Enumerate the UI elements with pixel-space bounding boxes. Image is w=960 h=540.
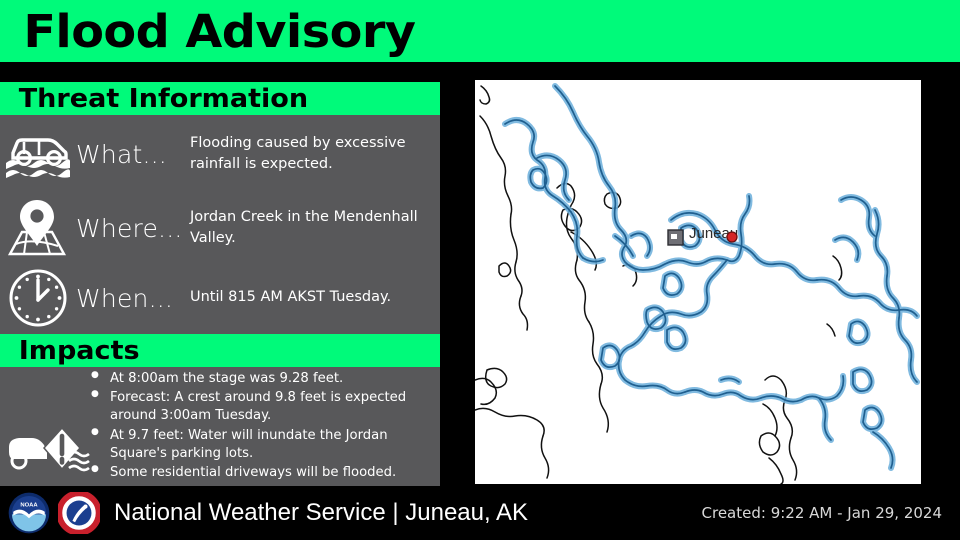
list-item: At 9.7 feet: Water will inundate the Jor… (88, 427, 440, 463)
footer: NOAA National Weather Service | Juneau, … (0, 486, 960, 540)
threat-row-when: When... Until 815 AM AKST Tuesday. (0, 264, 440, 332)
city-marker-icon (668, 230, 683, 245)
threat-information-header: Threat Information (0, 82, 440, 115)
nws-logo (58, 492, 100, 534)
threat-label-what: What... (76, 142, 188, 167)
top-banner: Flood Advisory (0, 0, 960, 62)
page-title: Flood Advisory (0, 9, 415, 54)
advisory-map[interactable]: Juneau (475, 80, 921, 484)
threat-text-where: Jordan Creek in the Mendenhall Valley. (188, 207, 438, 249)
map-pin-icon (0, 197, 76, 259)
noaa-logo: NOAA (8, 492, 50, 534)
impacts-title: Impacts (0, 338, 140, 364)
footer-title: National Weather Service | Juneau, AK (114, 499, 528, 527)
list-item: Forecast: A crest around 9.8 feet is exp… (88, 389, 440, 425)
advisory-graphic: Flood Advisory Threat Information What..… (0, 0, 960, 540)
threat-information-title: Threat Information (0, 86, 308, 112)
red-dot-marker (727, 232, 737, 242)
threat-text-when: Until 815 AM AKST Tuesday. (188, 287, 391, 308)
footer-created-timestamp: Created: 9:22 AM - Jan 29, 2024 (702, 504, 942, 522)
clock-icon (0, 267, 76, 329)
threat-label-where: Where... (76, 216, 188, 241)
impacts-header: Impacts (0, 334, 440, 367)
threat-text-what: Flooding caused by excessive rainfall is… (188, 133, 438, 175)
impacts-list: At 8:00am the stage was 9.28 feet. Forec… (88, 370, 440, 483)
threat-label-when: When... (76, 286, 188, 311)
flooded-car-warning-icon (4, 418, 92, 480)
car-in-flood-icon (0, 123, 76, 185)
threat-row-what: What... Flooding caused by excessive rai… (0, 118, 440, 190)
list-item: At 8:00am the stage was 9.28 feet. (88, 370, 440, 388)
threat-row-where: Where... Jordan Creek in the Mendenhall … (0, 192, 440, 264)
list-item: Some residential driveways will be flood… (88, 464, 440, 482)
svg-text:NOAA: NOAA (20, 502, 38, 508)
